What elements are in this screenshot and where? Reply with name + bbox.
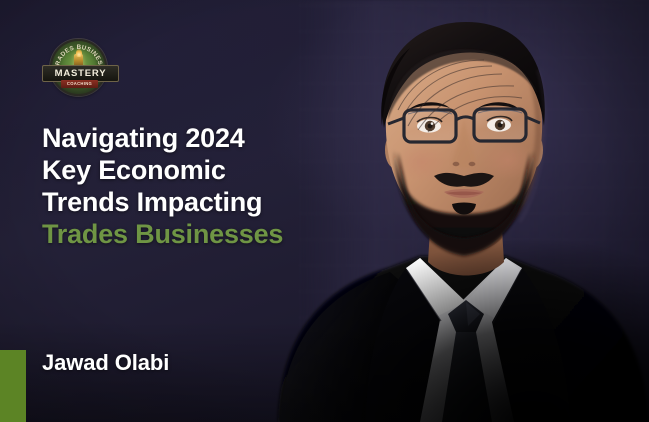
brand-logo[interactable]: TRADES BUSINESS MASTERY COACHING: [42, 39, 117, 92]
logo-banner-label: MASTERY: [55, 69, 107, 79]
headline-line-1: Navigating 2024: [42, 122, 372, 154]
webinar-title-banner: TRADES BUSINESS MASTERY COACHING Navigat…: [0, 0, 649, 422]
logo-sub-label: COACHING: [67, 82, 92, 86]
logo-sub-banner: COACHING: [61, 80, 98, 88]
speaker-accent-bar: [0, 350, 26, 422]
headline-line-2: Key Economic: [42, 154, 372, 186]
headline-line-3: Trends Impacting: [42, 186, 372, 218]
headline: Navigating 2024 Key Economic Trends Impa…: [42, 122, 372, 250]
headline-line-4-accent: Trades Businesses: [42, 218, 372, 250]
speaker-name: Jawad Olabi: [42, 350, 169, 376]
